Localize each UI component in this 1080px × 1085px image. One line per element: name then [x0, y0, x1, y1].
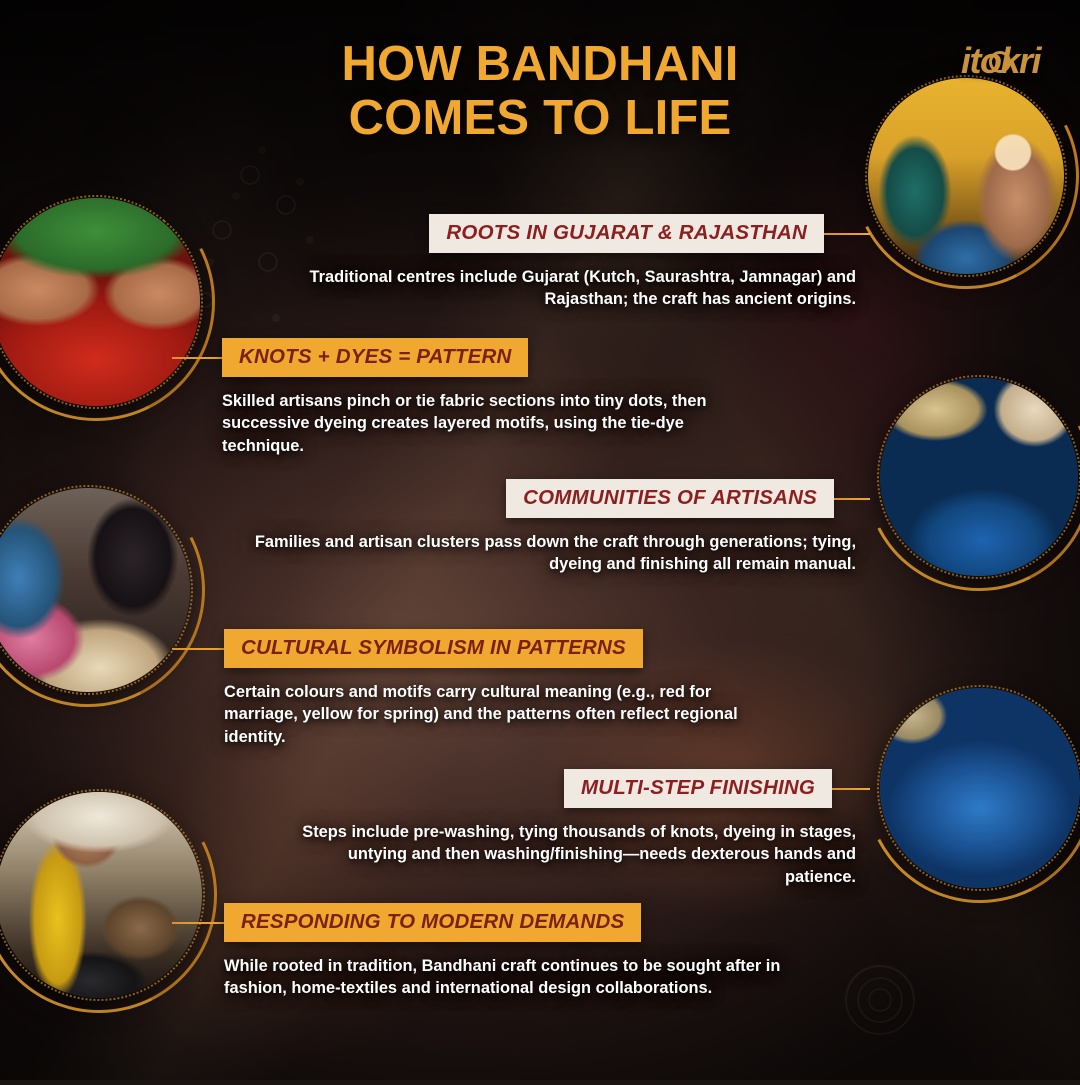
photo-red-knot-hands [0, 198, 200, 406]
section-communities-header-row: COMMUNITIES OF ARTISANS [236, 479, 870, 518]
section-communities-connector [834, 498, 870, 500]
section-modern-demands-body: While rooted in tradition, Bandhani craf… [172, 955, 792, 1000]
section-symbolism-header-row: CULTURAL SYMBOLISM IN PATTERNS [172, 629, 772, 668]
section-knots-dyes-header-row: KNOTS + DYES = PATTERN [172, 338, 760, 377]
page-title: HOW BANDHANI COMES TO LIFE [0, 38, 1080, 146]
photo-women-cluster [0, 488, 190, 692]
title-line-1: HOW BANDHANI [0, 38, 1080, 92]
section-finishing-heading: MULTI-STEP FINISHING [564, 769, 832, 808]
photo-dyeing-man [880, 378, 1078, 576]
section-roots: ROOTS IN GUJARAT & RAJASTHAN Traditional… [270, 214, 870, 311]
section-knots-dyes-body: Skilled artisans pinch or tie fabric sec… [172, 390, 760, 457]
section-modern-demands-heading: RESPONDING TO MODERN DEMANDS [224, 903, 641, 942]
brand-logo[interactable]: itokri [961, 40, 1040, 82]
section-communities: COMMUNITIES OF ARTISANS Families and art… [236, 479, 870, 576]
photo-disc [0, 198, 200, 406]
title-line-2: COMES TO LIFE [0, 92, 1080, 146]
section-finishing-connector [832, 788, 870, 790]
section-communities-heading: COMMUNITIES OF ARTISANS [506, 479, 834, 518]
section-symbolism: CULTURAL SYMBOLISM IN PATTERNS Certain c… [172, 629, 772, 748]
section-roots-header-row: ROOTS IN GUJARAT & RAJASTHAN [270, 214, 870, 253]
section-knots-dyes: KNOTS + DYES = PATTERN Skilled artisans … [172, 338, 760, 457]
photo-disc [880, 688, 1080, 888]
section-symbolism-body: Certain colours and motifs carry cultura… [172, 681, 772, 748]
photo-scene [0, 488, 190, 692]
section-finishing: MULTI-STEP FINISHING Steps include pre-w… [300, 769, 870, 888]
section-roots-connector [824, 233, 870, 235]
section-finishing-body: Steps include pre-washing, tying thousan… [300, 821, 870, 888]
section-symbolism-connector [172, 648, 224, 650]
section-symbolism-heading: CULTURAL SYMBOLISM IN PATTERNS [224, 629, 643, 668]
section-communities-body: Families and artisan clusters pass down … [236, 531, 870, 576]
photo-disc [880, 378, 1078, 576]
section-roots-heading: ROOTS IN GUJARAT & RAJASTHAN [429, 214, 824, 253]
photo-scene [880, 688, 1080, 888]
section-finishing-header-row: MULTI-STEP FINISHING [300, 769, 870, 808]
photo-scene [880, 378, 1078, 576]
section-roots-body: Traditional centres include Gujarat (Kut… [270, 266, 870, 311]
section-knots-dyes-heading: KNOTS + DYES = PATTERN [222, 338, 528, 377]
section-knots-dyes-connector [172, 357, 222, 359]
photo-scene [0, 198, 200, 406]
section-modern-demands-header-row: RESPONDING TO MODERN DEMANDS [172, 903, 792, 942]
section-modern-demands: RESPONDING TO MODERN DEMANDS While roote… [172, 903, 792, 1000]
photo-indigo-vat [880, 688, 1080, 888]
section-modern-demands-connector [172, 922, 224, 924]
photo-disc [0, 488, 190, 692]
